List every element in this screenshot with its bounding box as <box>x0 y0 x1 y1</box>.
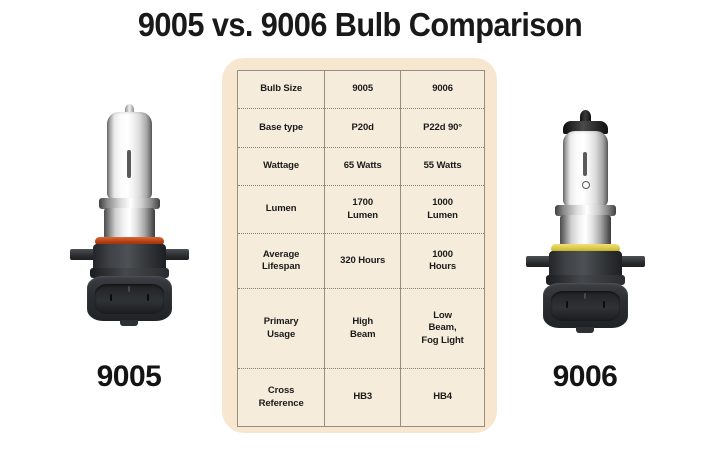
bulb-9005-connector-tab <box>120 320 138 326</box>
comparison-infographic: 9005 vs. 9006 Bulb Comparison 9005 <box>0 0 720 450</box>
bulb-9006-label: 9006 <box>495 360 675 394</box>
row-label: Bulb Size <box>238 71 325 109</box>
cell-9006: 1000Lumen <box>401 186 485 234</box>
cell-9006: 55 Watts <box>401 148 485 186</box>
bulb-9006-connector-tab <box>576 327 594 333</box>
cell-9005: 9005 <box>325 71 401 109</box>
table-row: Lumen1700Lumen1000Lumen <box>238 186 485 234</box>
row-label: CrossReference <box>238 369 325 427</box>
row-label: PrimaryUsage <box>238 289 325 369</box>
bulb-9006-connector-key <box>584 293 586 299</box>
table-row: Bulb Size90059006 <box>238 71 485 109</box>
cell-9005: HighBeam <box>325 289 401 369</box>
table-row: PrimaryUsageHighBeamLowBeam,Fog Light <box>238 289 485 369</box>
bulb-9005-pin-2 <box>147 294 149 301</box>
cell-9006: 1000Hours <box>401 234 485 289</box>
bulb-9005-label: 9005 <box>39 360 219 394</box>
cell-9005: HB3 <box>325 369 401 427</box>
bulb-9006-filament <box>583 152 587 176</box>
row-label: Wattage <box>238 148 325 186</box>
row-label: Base type <box>238 109 325 148</box>
cell-9006: P22d 90° <box>401 109 485 148</box>
comparison-table: Bulb Size90059006Base typeP20dP22d 90°Wa… <box>237 70 485 427</box>
cell-9005: 1700Lumen <box>325 186 401 234</box>
bulb-9006-collar <box>560 215 611 246</box>
cell-9005: P20d <box>325 109 401 148</box>
row-label: Lumen <box>238 186 325 234</box>
table-row: Base typeP20dP22d 90° <box>238 109 485 148</box>
row-label: AverageLifespan <box>238 234 325 289</box>
bulb-9006-pin-1 <box>566 301 568 308</box>
bulb-9006-pin-2 <box>603 301 605 308</box>
cell-9005: 65 Watts <box>325 148 401 186</box>
cell-9006: LowBeam,Fog Light <box>401 289 485 369</box>
comparison-table-body: Bulb Size90059006Base typeP20dP22d 90°Wa… <box>238 71 485 427</box>
bulb-9006-filament-coil <box>582 181 590 189</box>
cell-9005: 320 Hours <box>325 234 401 289</box>
cell-9006: 9006 <box>401 71 485 109</box>
page-title: 9005 vs. 9006 Bulb Comparison <box>25 6 695 44</box>
bulb-9005-pin-1 <box>110 294 112 301</box>
cell-9006: HB4 <box>401 369 485 427</box>
table-row: Wattage65 Watts55 Watts <box>238 148 485 186</box>
bulb-9005-collar <box>104 208 155 239</box>
table-row: AverageLifespan320 Hours1000Hours <box>238 234 485 289</box>
bulb-9005-connector-key <box>128 286 130 292</box>
table-row: CrossReferenceHB3HB4 <box>238 369 485 427</box>
bulb-9005-filament <box>127 150 131 178</box>
